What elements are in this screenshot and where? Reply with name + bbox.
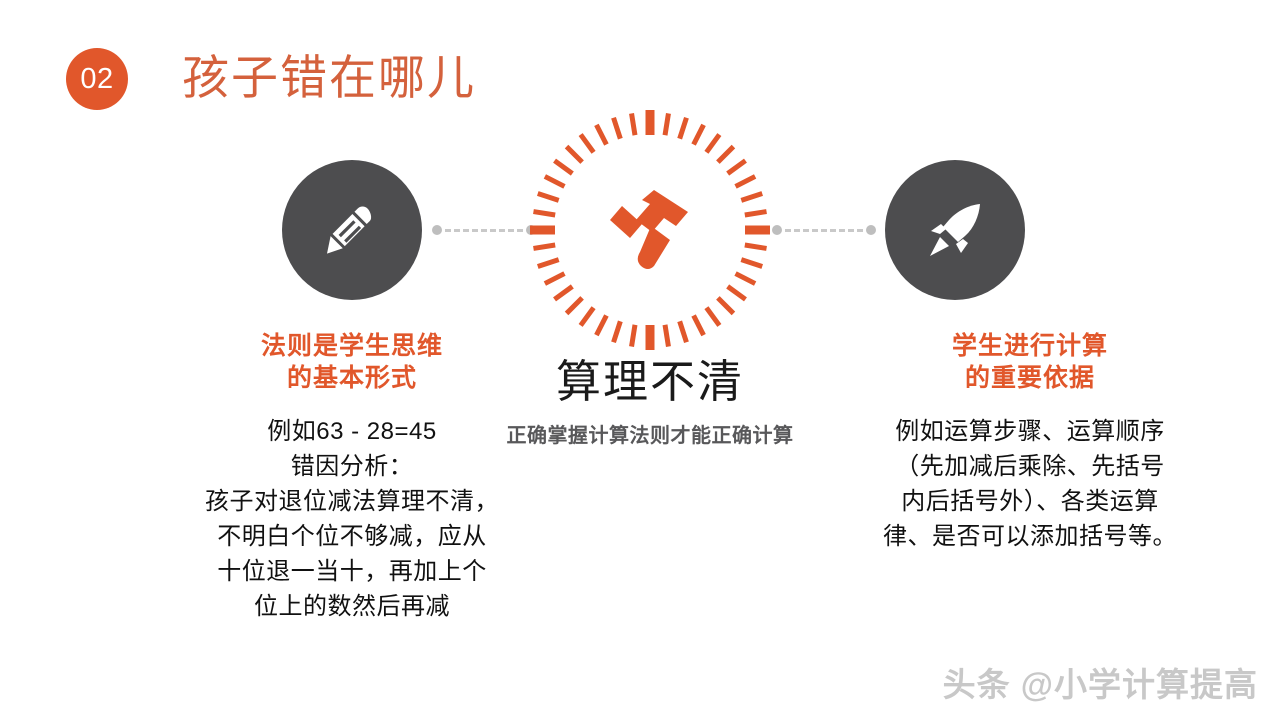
right-connector [772,224,876,236]
left-connector [432,224,536,236]
right-node-circle [885,160,1025,300]
left-node-circle [282,160,422,300]
left-body-line: 十位退一当十，再加上个 [162,554,542,589]
right-heading-line: 学生进行计算 [840,330,1220,362]
right-column-body: 例如运算步骤、运算顺序 （先加减后乘除、先括号 内后括号外）、各类运算 律、是否… [840,414,1220,554]
right-column: 学生进行计算 的重要依据 例如运算步骤、运算顺序 （先加减后乘除、先括号 内后括… [840,330,1220,554]
left-body-line: 位上的数然后再减 [162,589,542,624]
connector-dashed-line [445,229,523,232]
rocket-icon [923,198,987,262]
right-body-line: 律、是否可以添加括号等。 [840,519,1220,554]
hammer-icon [602,182,698,278]
pencil-icon [320,198,384,262]
right-body-line: 内后括号外）、各类运算 [840,484,1220,519]
slide-canvas: 02 孩子错在哪儿 [0,0,1280,720]
connector-dot [866,225,876,235]
center-ticked-ring [525,105,775,355]
section-number-badge: 02 [66,48,128,110]
right-heading-line: 的重要依据 [840,362,1220,394]
right-column-heading: 学生进行计算 的重要依据 [840,330,1220,394]
left-body-line: 孩子对退位减法算理不清， [162,484,542,519]
right-body-line: （先加减后乘除、先括号 [840,449,1220,484]
center-subtitle: 正确掌握计算法则才能正确计算 [460,423,840,449]
connector-dashed-line [785,229,863,232]
right-body-line: 例如运算步骤、运算顺序 [840,414,1220,449]
watermark: 头条 @小学计算提高 [943,664,1258,706]
page-title: 孩子错在哪儿 [182,47,476,109]
connector-dot [772,225,782,235]
center-title: 算理不清 [460,355,840,409]
connector-dot [432,225,442,235]
left-body-line: 不明白个位不够减，应从 [162,519,542,554]
left-body-line: 错因分析： [162,449,542,484]
center-column: 算理不清 正确掌握计算法则才能正确计算 [460,355,840,449]
